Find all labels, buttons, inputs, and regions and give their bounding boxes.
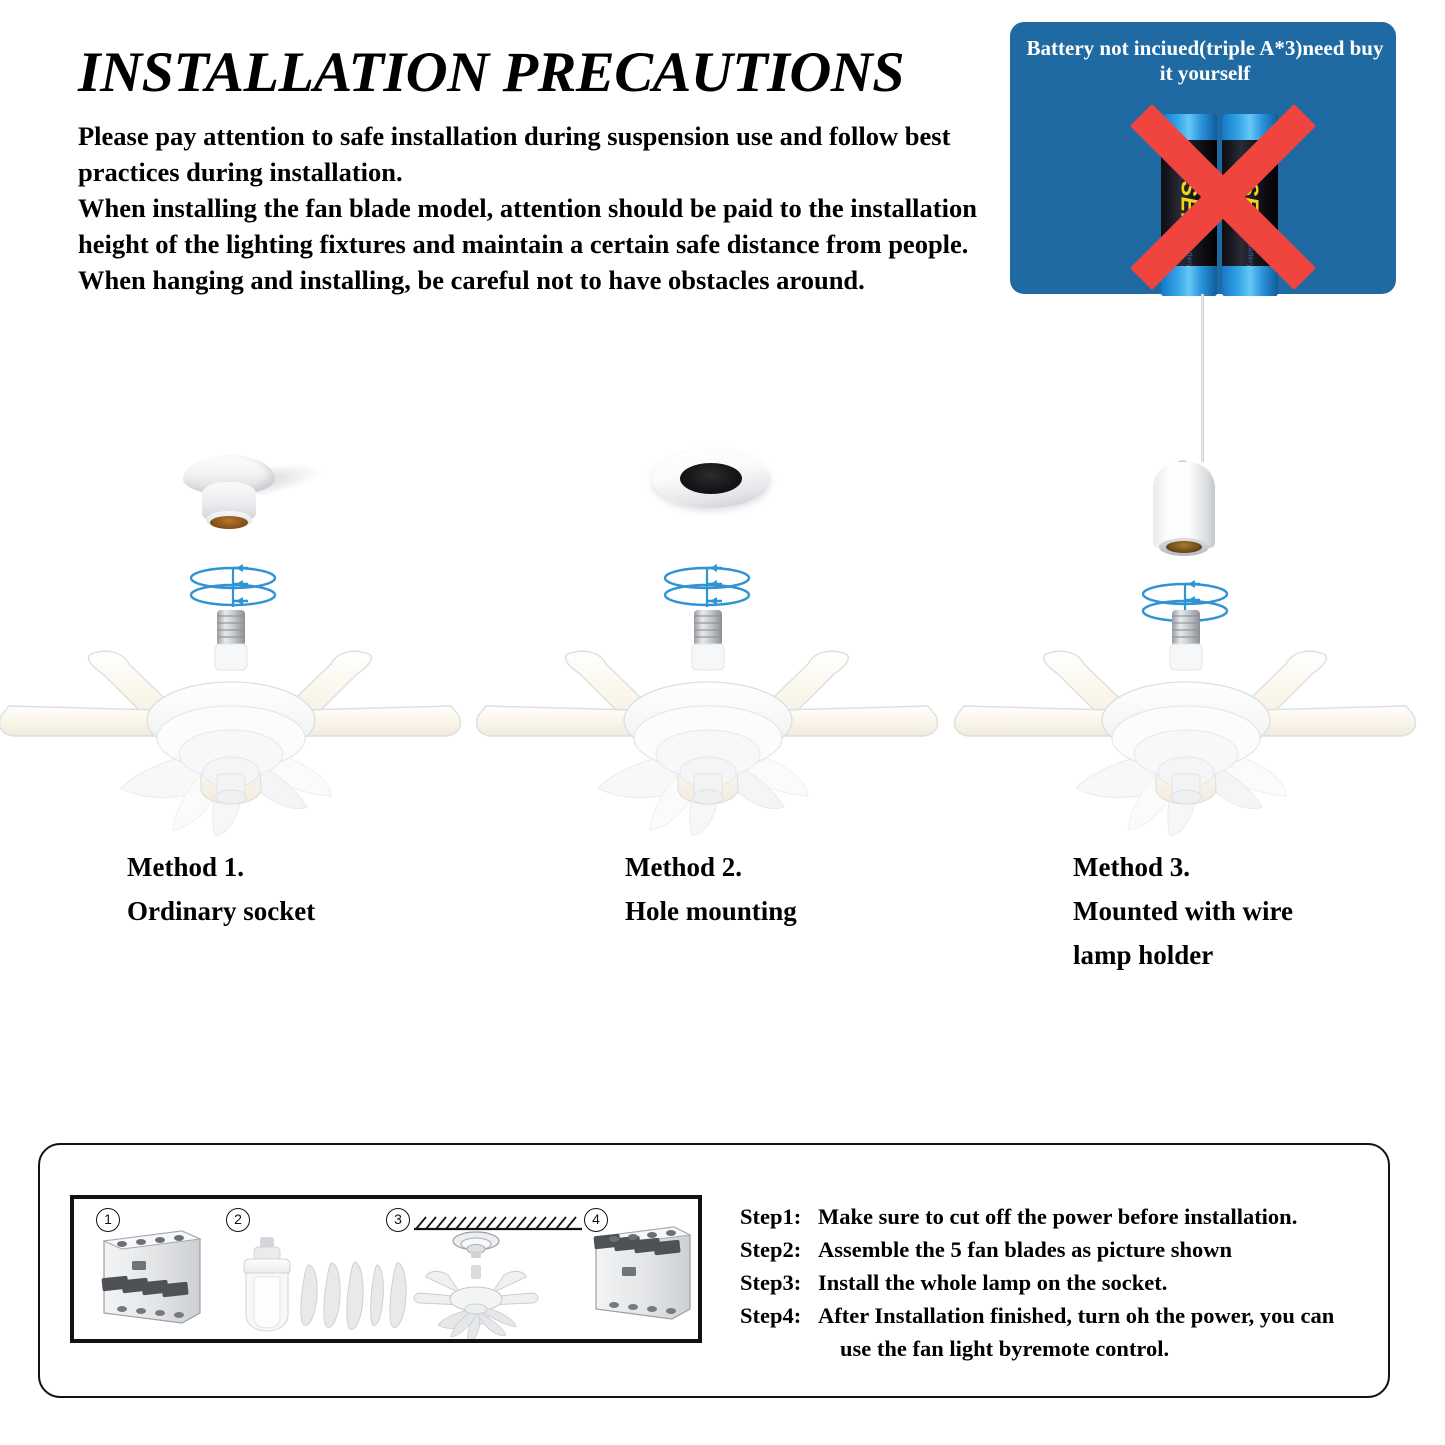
cross-out-icon	[1128, 102, 1318, 292]
step-item: Step1: Make sure to cut off the power be…	[740, 1200, 1380, 1233]
method-3-label: Method 3. Mounted with wire lamp holder	[1073, 845, 1293, 977]
circuit-breaker-on-icon	[593, 1227, 690, 1319]
circuit-breaker-off-icon	[101, 1231, 200, 1323]
intro-text-block: Please pay attention to safe installatio…	[78, 118, 1008, 298]
parts-diagram-box: 1 2 3 4	[70, 1195, 702, 1343]
fan-lamp-assembly	[0, 602, 465, 852]
method-3-illustration	[950, 430, 1420, 860]
pendant-holder-icon	[1153, 462, 1221, 562]
intro-line-3: When hanging and installing, be careful …	[78, 262, 1008, 298]
fan-lamp-assembly	[950, 602, 1420, 852]
step-item: Step3: Install the whole lamp on the soc…	[740, 1266, 1380, 1299]
method-2-illustration	[472, 430, 942, 860]
step-item: Step2: Assemble the 5 fan blades as pict…	[740, 1233, 1380, 1266]
ceiling-mounted-fan-lamp-icon	[414, 1217, 582, 1339]
steps-list: Step1: Make sure to cut off the power be…	[740, 1200, 1380, 1365]
intro-line-2: When installing the fan blade model, att…	[78, 190, 1008, 262]
intro-line-1: Please pay attention to safe installatio…	[78, 118, 1008, 190]
lamp-body-and-blades-icon	[244, 1237, 406, 1331]
hole-mount-icon	[652, 450, 770, 510]
parts-illustrations	[74, 1199, 698, 1339]
method-2-label: Method 2. Hole mounting	[625, 845, 797, 933]
page-title: INSTALLATION PRECAUTIONS	[78, 40, 904, 105]
step-item-continuation: use the fan light byremote control.	[740, 1332, 1380, 1365]
installation-precautions-page: INSTALLATION PRECAUTIONS Please pay atte…	[0, 0, 1445, 1445]
installation-steps-panel: 1 2 3 4	[38, 1143, 1390, 1398]
step-item: Step4: After Installation finished, turn…	[740, 1299, 1380, 1332]
method-1-illustration	[0, 430, 465, 860]
method-1-label: Method 1. Ordinary socket	[127, 845, 315, 933]
ordinary-socket-icon	[183, 455, 275, 540]
fan-lamp-assembly	[472, 602, 942, 852]
battery-warning-box: Battery not inciued(triple A*3)need buy …	[1010, 22, 1396, 294]
battery-warning-text: Battery not inciued(triple A*3)need buy …	[1024, 36, 1386, 86]
